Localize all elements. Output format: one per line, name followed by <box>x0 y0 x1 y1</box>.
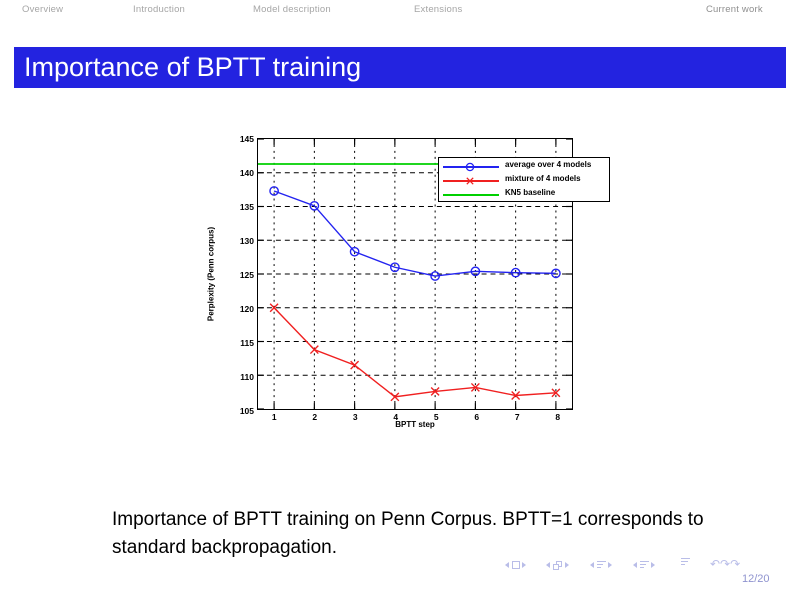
nav-item-extensions[interactable]: Extensions <box>414 4 462 15</box>
y-tick-label: 110 <box>240 372 254 382</box>
frame-stack-icon[interactable] <box>553 561 563 570</box>
x-tick-label: 3 <box>353 412 358 422</box>
x-tick-label: 2 <box>312 412 317 422</box>
slide-square-icon[interactable] <box>512 561 520 569</box>
prev-section-arrow-icon[interactable] <box>633 562 637 568</box>
subsection-nav-group <box>590 558 612 572</box>
prev-slide-arrow-icon[interactable] <box>505 562 509 568</box>
chart-x-axis-label: BPTT step <box>395 420 435 429</box>
beamer-navigation-bar: ↶↷↷ <box>505 558 755 574</box>
section-nav-group <box>633 558 655 572</box>
page-number: 12/20 <box>742 573 770 585</box>
x-tick-label: 6 <box>474 412 479 422</box>
nav-item-model-description[interactable]: Model description <box>253 4 331 15</box>
legend-label-baseline: KN5 baseline <box>505 188 555 197</box>
header-navigation-bar: Overview Introduction Model description … <box>0 0 800 26</box>
y-tick-label: 120 <box>240 304 254 314</box>
y-tick-label: 135 <box>240 202 254 212</box>
legend-entry-mixture: mixture of 4 models <box>439 173 609 188</box>
section-lines-icon[interactable] <box>640 561 649 569</box>
nav-item-overview[interactable]: Overview <box>22 4 63 15</box>
page-title: Importance of BPTT training <box>24 52 361 83</box>
x-tick-label: 8 <box>555 412 560 422</box>
legend-label-average: average over 4 models <box>505 160 591 169</box>
slide-caption: Importance of BPTT training on Penn Corp… <box>112 506 712 562</box>
next-subsection-arrow-icon[interactable] <box>608 562 612 568</box>
y-tick-label: 125 <box>240 270 254 280</box>
subsection-lines-icon[interactable] <box>597 561 606 569</box>
y-tick-label: 140 <box>240 168 254 178</box>
x-tick-label: 4 <box>393 412 398 422</box>
chart-figure: Perplexity (Penn corpus) BPTT step avera… <box>205 128 595 440</box>
legend-line-baseline <box>443 194 499 196</box>
y-tick-label: 115 <box>240 338 254 348</box>
x-tick-label: 7 <box>515 412 520 422</box>
slide-nav-group <box>505 558 526 572</box>
x-marker-icon <box>465 176 475 186</box>
y-tick-label: 105 <box>240 406 254 416</box>
legend-entry-baseline: KN5 baseline <box>439 187 609 202</box>
legend-entry-average: average over 4 models <box>439 159 609 174</box>
prev-subsection-arrow-icon[interactable] <box>590 562 594 568</box>
nav-item-introduction[interactable]: Introduction <box>133 4 185 15</box>
home-lines-icon[interactable] <box>681 558 690 566</box>
slide-title-banner: Importance of BPTT training <box>14 47 786 88</box>
frame-nav-group <box>546 558 569 572</box>
y-tick-label: 130 <box>240 236 254 246</box>
x-tick-label: 1 <box>272 412 277 422</box>
next-slide-arrow-icon[interactable] <box>522 562 526 568</box>
next-section-arrow-icon[interactable] <box>651 562 655 568</box>
chart-legend: average over 4 models mixture of 4 model… <box>438 157 610 202</box>
y-tick-label: 145 <box>240 134 254 144</box>
nav-item-current-work[interactable]: Current work <box>706 4 763 15</box>
chart-y-axis-label: Perplexity (Penn corpus) <box>207 227 216 321</box>
x-tick-label: 5 <box>434 412 439 422</box>
circle-marker-icon <box>465 162 475 172</box>
legend-label-mixture: mixture of 4 models <box>505 174 581 183</box>
chart-plot-area: average over 4 models mixture of 4 model… <box>257 138 573 410</box>
next-frame-arrow-icon[interactable] <box>565 562 569 568</box>
prev-frame-arrow-icon[interactable] <box>546 562 550 568</box>
history-arrows-icon[interactable]: ↶↷↷ <box>710 557 740 571</box>
